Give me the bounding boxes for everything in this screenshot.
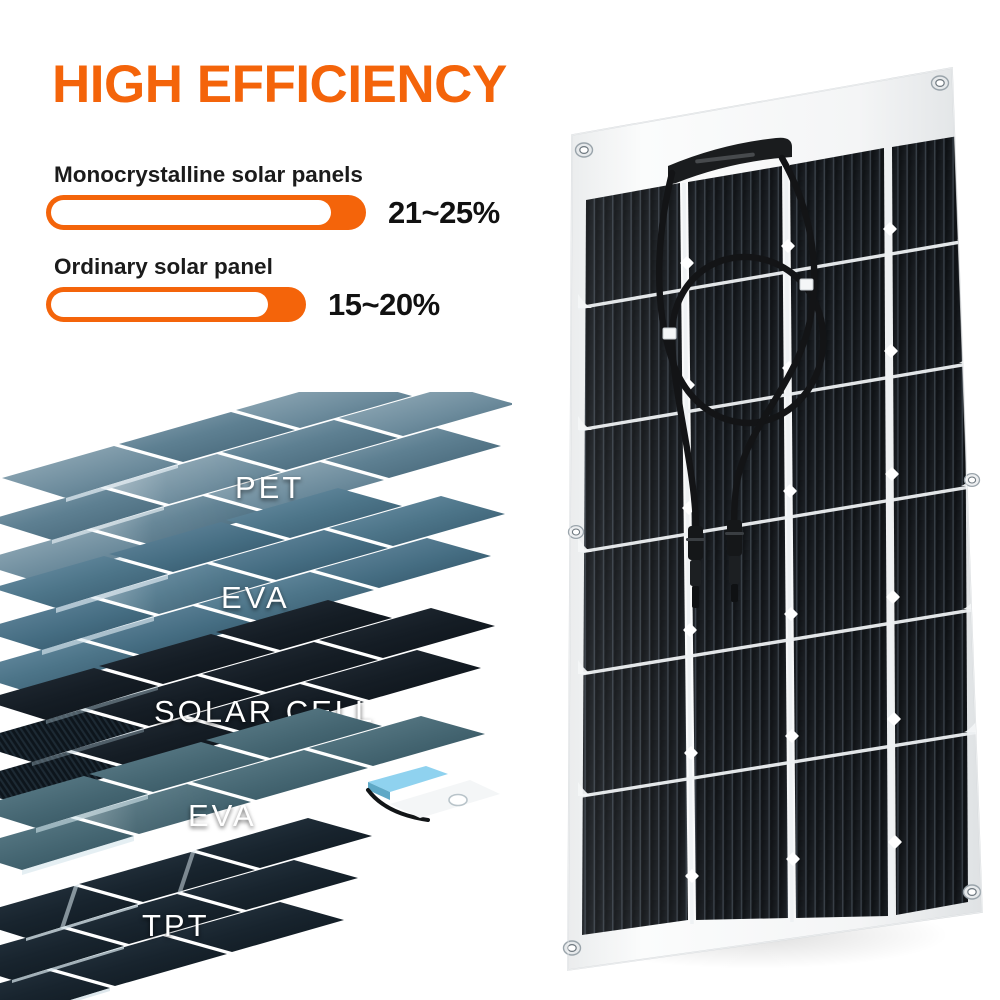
efficiency-label: Monocrystalline solar panels <box>54 163 500 188</box>
product-infographic: HIGH EFFICIENCY Monocrystalline solar pa… <box>0 0 1000 1000</box>
page-title: HIGH EFFICIENCY <box>52 58 507 111</box>
layer-label-eva-bottom: EVA <box>188 798 257 833</box>
efficiency-bar-ordinary <box>46 287 306 322</box>
efficiency-row-ordinary: Ordinary solar panel 15~20% <box>46 255 440 323</box>
efficiency-value: 15~20% <box>328 287 440 323</box>
efficiency-label: Ordinary solar panel <box>54 255 440 280</box>
layer-label-pet: PET <box>235 470 304 505</box>
panel-laminate <box>568 68 982 970</box>
grommet-top-left <box>576 143 593 157</box>
cable-clip-right <box>800 279 813 290</box>
solar-panel-product-image <box>520 40 1000 1000</box>
efficiency-bar-monocrystalline <box>46 195 366 230</box>
grommet-bottom-left <box>564 941 581 955</box>
cable-clip-left <box>663 328 676 339</box>
layer-label-eva-top: EVA <box>221 580 290 615</box>
grommet-mid-left <box>569 526 584 539</box>
mini-panel-detail <box>368 766 500 820</box>
efficiency-value: 21~25% <box>388 195 500 231</box>
bar-track <box>51 200 331 225</box>
efficiency-row-monocrystalline: Monocrystalline solar panels 21~25% <box>46 163 500 231</box>
layer-stack-diagram: PET EVA <box>0 392 512 1000</box>
grommet-top-right <box>932 76 949 90</box>
bar-track <box>51 292 268 317</box>
grommet-bottom-right <box>964 885 981 899</box>
